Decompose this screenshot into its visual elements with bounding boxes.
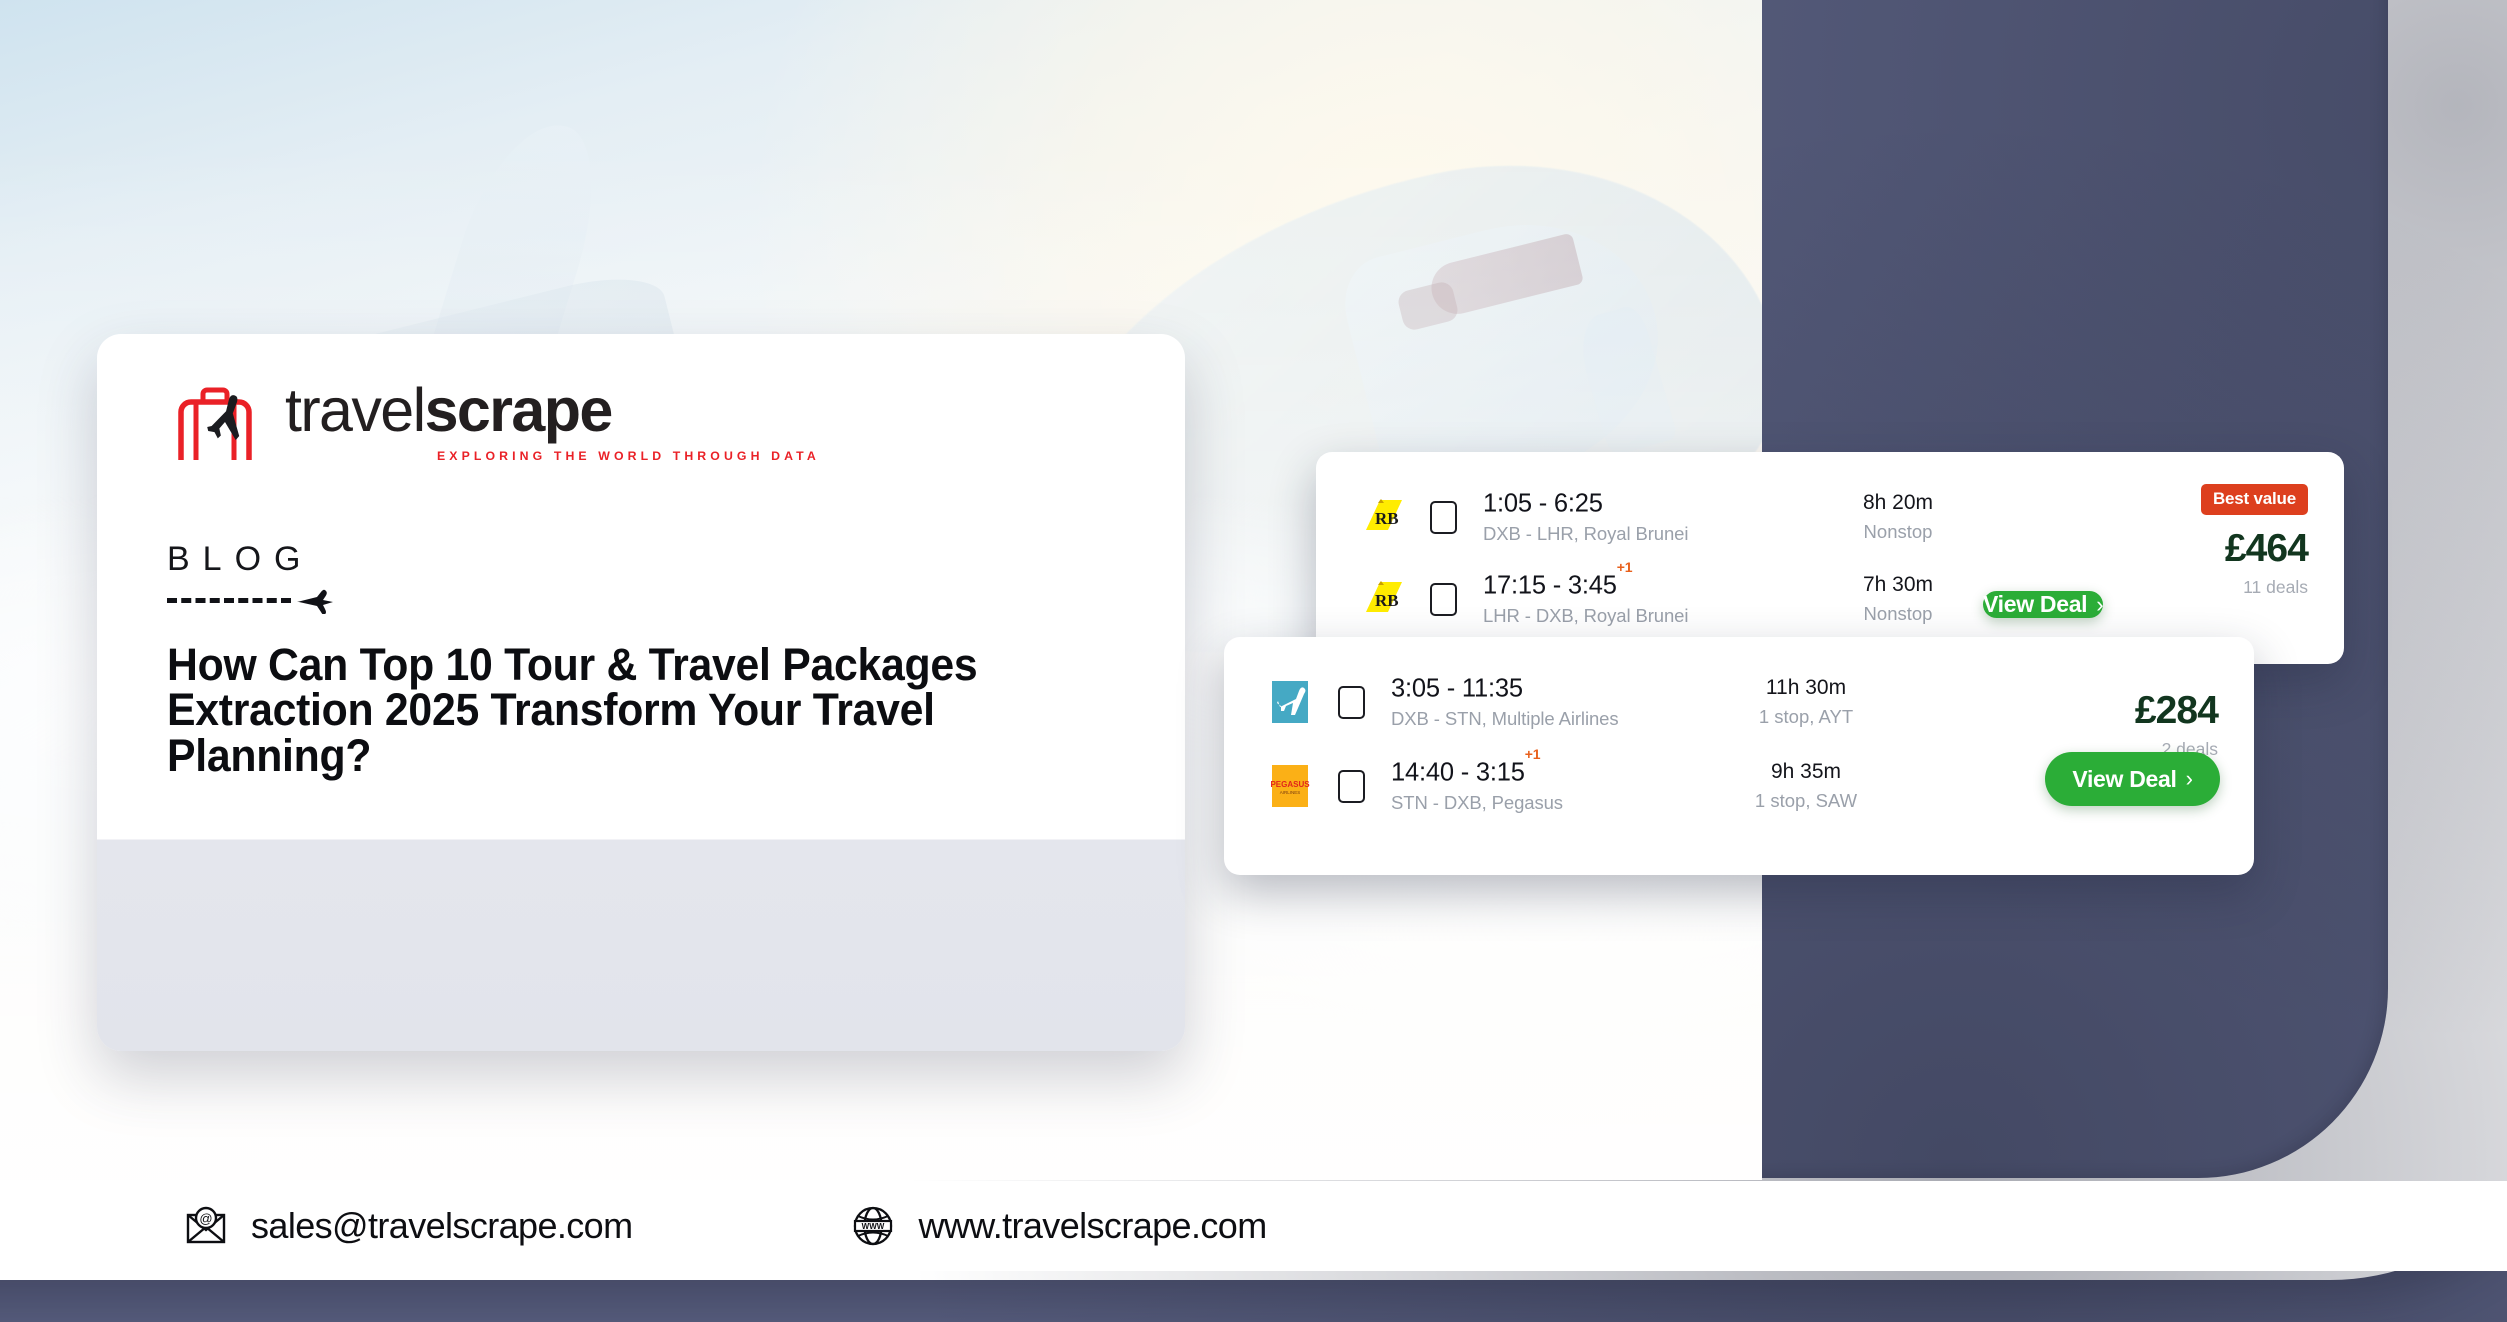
- pegasus-logo: PEGASUS AIRLINES: [1266, 761, 1314, 811]
- flight-times: 1:05 - 6:25 DXB - LHR, Royal Brunei: [1483, 489, 1783, 546]
- blog-content-card: travelscrape EXPLORING THE WORLD THROUGH…: [97, 334, 1185, 1051]
- chevron-right-icon: ›: [2096, 592, 2103, 618]
- svg-text:AIRLINES: AIRLINES: [1280, 790, 1301, 795]
- suitcase-airplane-icon: [167, 382, 263, 462]
- flight-route: STN - DXB, Pegasus: [1391, 792, 1691, 814]
- flight-row[interactable]: RB 17:15 - 3:45+1 LHR - DXB, Royal Brune…: [1316, 556, 2344, 642]
- email-address: sales@travelscrape.com: [251, 1205, 632, 1247]
- flight-route: LHR - DXB, Royal Brunei: [1483, 605, 1783, 627]
- page-title: How Can Top 10 Tour & Travel Packages Ex…: [167, 642, 994, 779]
- globe-www-icon: WWW: [850, 1203, 896, 1249]
- royal-brunei-logo: RB: [1358, 492, 1406, 542]
- flight-duration: 9h 35m 1 stop, SAW: [1691, 760, 1921, 812]
- brand-tagline: EXPLORING THE WORLD THROUGH DATA: [437, 449, 820, 463]
- view-deal-label: View Deal: [2072, 766, 2176, 793]
- duration-value: 7h 30m: [1783, 573, 2013, 597]
- view-deal-button[interactable]: View Deal ›: [1983, 591, 2103, 618]
- time-range: 14:40 - 3:15: [1391, 758, 1525, 786]
- flight-duration: 11h 30m 1 stop, AYT: [1691, 676, 1921, 728]
- svg-text:WWW: WWW: [862, 1222, 885, 1231]
- flight-checkbox[interactable]: [1430, 501, 1457, 534]
- footer-email[interactable]: @ sales@travelscrape.com: [183, 1203, 632, 1249]
- status-badge: Best value: [2201, 484, 2308, 515]
- stops-value: 1 stop, AYT: [1691, 706, 1921, 728]
- flight-duration: 7h 30m Nonstop: [1783, 573, 2013, 625]
- royal-brunei-logo: RB: [1358, 574, 1406, 624]
- duration-value: 8h 20m: [1783, 491, 2013, 515]
- post-kicker: BLOG: [167, 540, 1145, 579]
- price-value: £464: [2201, 527, 2308, 571]
- flight-row[interactable]: RB 1:05 - 6:25 DXB - LHR, Royal Brunei 8…: [1316, 474, 2344, 560]
- flight-checkbox[interactable]: [1338, 770, 1365, 803]
- time-range: 17:15 - 3:45: [1483, 571, 1617, 599]
- stops-value: Nonstop: [1783, 521, 2013, 543]
- flight-row[interactable]: 3:05 - 11:35 DXB - STN, Multiple Airline…: [1224, 659, 2254, 745]
- stops-value: Nonstop: [1783, 603, 2013, 625]
- dashed-line: [167, 598, 291, 603]
- flight-times: 14:40 - 3:15+1 STN - DXB, Pegasus: [1391, 758, 1691, 815]
- svg-text:@: @: [199, 1211, 212, 1226]
- view-deal-label: View Deal: [1983, 591, 2087, 618]
- website-url: www.travelscrape.com: [918, 1205, 1266, 1247]
- time-range: 3:05 - 11:35: [1391, 674, 1523, 702]
- flight-checkbox[interactable]: [1430, 583, 1457, 616]
- price-block: Best value £464 11 deals: [2201, 484, 2308, 598]
- price-block: £284 2 deals: [2135, 677, 2218, 760]
- airplane-dashed-icon: [295, 588, 335, 614]
- footer-website[interactable]: WWW www.travelscrape.com: [850, 1203, 1266, 1249]
- stops-value: 1 stop, SAW: [1691, 790, 1921, 812]
- duration-value: 11h 30m: [1691, 676, 1921, 700]
- duration-value: 9h 35m: [1691, 760, 1921, 784]
- view-deal-button[interactable]: View Deal ›: [2045, 752, 2220, 806]
- flight-route: DXB - LHR, Royal Brunei: [1483, 523, 1783, 545]
- svg-text:RB: RB: [1375, 591, 1399, 610]
- multiple-airlines-logo: [1266, 677, 1314, 727]
- plus-days: +1: [1617, 559, 1633, 575]
- flight-times: 3:05 - 11:35 DXB - STN, Multiple Airline…: [1391, 674, 1691, 731]
- brand-wordmark: travelscrape: [285, 382, 820, 440]
- contact-footer: @ sales@travelscrape.com WWW www.travels…: [0, 1181, 2507, 1271]
- svg-text:RB: RB: [1375, 509, 1399, 528]
- flight-card-royal-brunei[interactable]: RB 1:05 - 6:25 DXB - LHR, Royal Brunei 8…: [1316, 452, 2344, 664]
- flight-card-multiple-airlines[interactable]: 3:05 - 11:35 DXB - STN, Multiple Airline…: [1224, 637, 2254, 875]
- time-range: 1:05 - 6:25: [1483, 489, 1603, 517]
- plus-days: +1: [1525, 746, 1541, 762]
- poster-root: travelscrape EXPLORING THE WORLD THROUGH…: [0, 0, 2507, 1322]
- envelope-at-icon: @: [183, 1203, 229, 1249]
- flight-route: DXB - STN, Multiple Airlines: [1391, 708, 1691, 730]
- flight-times: 17:15 - 3:45+1 LHR - DXB, Royal Brunei: [1483, 571, 1783, 628]
- brand-logo[interactable]: travelscrape EXPLORING THE WORLD THROUGH…: [167, 382, 1145, 463]
- flight-checkbox[interactable]: [1338, 686, 1365, 719]
- brand-name-bold: scrape: [425, 376, 612, 444]
- kicker-divider: [167, 588, 1145, 614]
- deals-count: 11 deals: [2201, 577, 2308, 598]
- flight-duration: 8h 20m Nonstop: [1783, 491, 2013, 543]
- price-value: £284: [2135, 689, 2218, 733]
- brand-name-light: travel: [285, 376, 425, 444]
- chevron-right-icon: ›: [2186, 766, 2193, 792]
- svg-text:PEGASUS: PEGASUS: [1270, 780, 1310, 789]
